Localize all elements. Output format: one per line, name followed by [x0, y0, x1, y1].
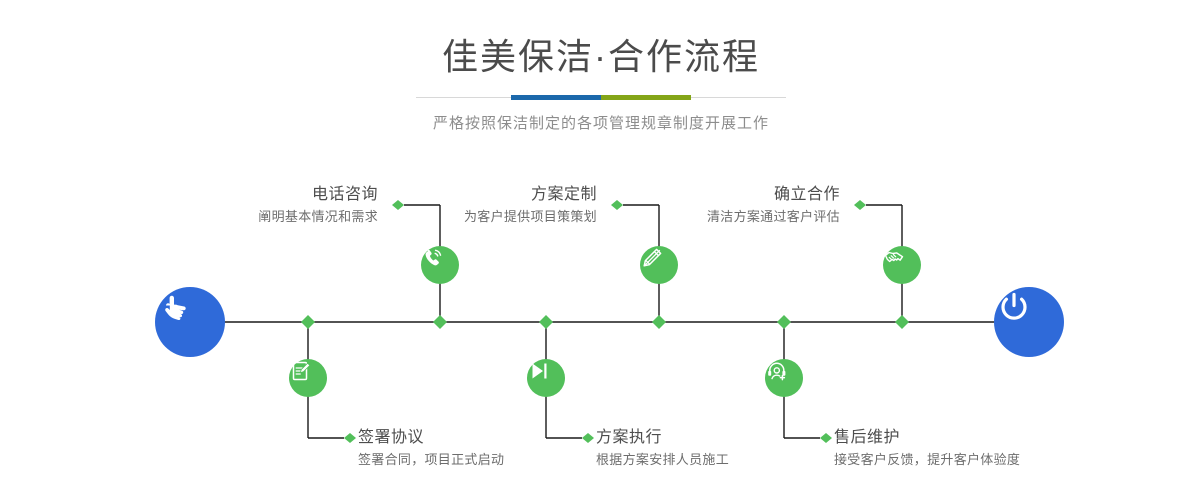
marker-step-2-axis [301, 315, 315, 329]
step-title-4: 方案执行 [596, 428, 729, 448]
step-label-5: 确立合作 清洁方案通过客户评估 [707, 185, 840, 227]
hand-pointing-icon [155, 287, 195, 327]
step-title-3: 方案定制 [464, 185, 597, 205]
marker-step-6-label [820, 433, 832, 443]
marker-step-3-label [611, 200, 623, 210]
marker-step-1-axis [433, 315, 447, 329]
node-icon-step-6[interactable] [765, 359, 803, 397]
node-icon-step-4[interactable] [527, 359, 565, 397]
step-desc-3: 为客户提供项目策策划 [464, 207, 597, 227]
step-desc-5: 清洁方案通过客户评估 [707, 207, 840, 227]
flow-connectors [0, 0, 1202, 502]
marker-step-3-axis [652, 315, 666, 329]
marker-step-4-axis [539, 315, 553, 329]
step-desc-1: 阐明基本情况和需求 [258, 207, 378, 227]
step-label-1: 电话咨询 阐明基本情况和需求 [258, 185, 378, 227]
step-desc-6: 接受客户反馈，提升客户体验度 [834, 450, 1020, 470]
node-icon-step-5[interactable] [883, 246, 921, 284]
marker-step-1-label [392, 200, 404, 210]
cooperation-flow-page: 佳美保洁·合作流程 严格按照保洁制定的各项管理规章制度开展工作 [0, 0, 1202, 502]
step-title-1: 电话咨询 [258, 185, 378, 205]
step-desc-4: 根据方案安排人员施工 [596, 450, 729, 470]
marker-step-5-axis [895, 315, 909, 329]
sign-document-icon [289, 359, 313, 383]
step-desc-2: 签署合同，项目正式启动 [358, 450, 504, 470]
play-execute-icon [527, 359, 551, 383]
power-icon [994, 287, 1034, 327]
step-title-2: 签署协议 [358, 428, 504, 448]
flow-start-node[interactable] [155, 287, 225, 357]
node-icon-step-3[interactable] [640, 246, 678, 284]
process-flow-diagram: 电话咨询 阐明基本情况和需求 方案定制 为客户提供项目策策划 确立合作 清洁方案… [0, 0, 1202, 502]
pencil-plan-icon [640, 246, 664, 270]
step-title-6: 售后维护 [834, 428, 1020, 448]
marker-step-6-axis [777, 315, 791, 329]
marker-step-2-label [344, 433, 356, 443]
node-icon-step-2[interactable] [289, 359, 327, 397]
step-label-6: 售后维护 接受客户反馈，提升客户体验度 [834, 428, 1020, 470]
handshake-icon [883, 246, 907, 270]
node-icon-step-1[interactable] [421, 246, 459, 284]
step-label-2: 签署协议 签署合同，项目正式启动 [358, 428, 504, 470]
phone-call-icon [421, 246, 445, 270]
step-label-4: 方案执行 根据方案安排人员施工 [596, 428, 729, 470]
marker-step-5-label [854, 200, 866, 210]
headset-support-icon [765, 359, 789, 383]
step-title-5: 确立合作 [707, 185, 840, 205]
flow-end-node[interactable] [994, 287, 1064, 357]
marker-step-4-label [582, 433, 594, 443]
step-label-3: 方案定制 为客户提供项目策策划 [464, 185, 597, 227]
